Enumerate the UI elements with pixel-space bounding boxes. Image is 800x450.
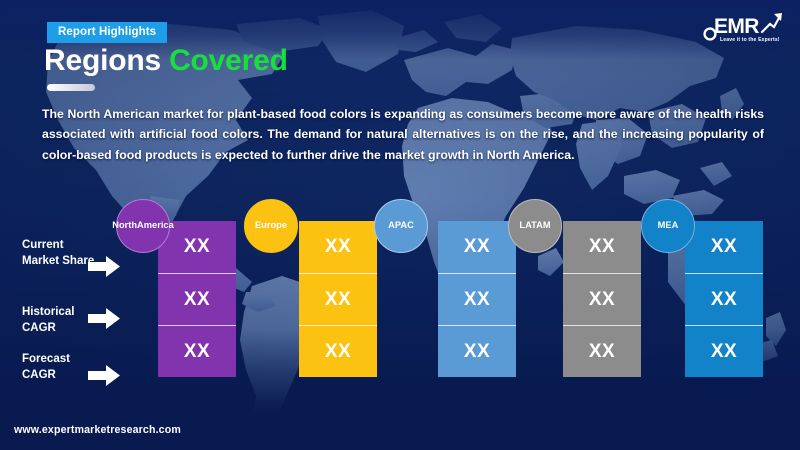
arrow-right-icon-1 bbox=[88, 256, 120, 277]
svg-text:EMR: EMR bbox=[714, 15, 759, 38]
arrow-right-icon-2 bbox=[88, 308, 120, 329]
svg-text:Leave it to the Experts!: Leave it to the Experts! bbox=[720, 37, 780, 43]
region-bubble-europe[interactable]: Europe bbox=[244, 199, 298, 253]
growth-arrow-icon bbox=[762, 13, 782, 32]
region-bubble-mea[interactable]: MEA bbox=[641, 199, 695, 253]
slide-canvas: Report Highlights Regions Covered EMR Le… bbox=[0, 0, 800, 450]
footer-url[interactable]: www.expertmarketresearch.com bbox=[14, 424, 181, 436]
region-bubble-latam[interactable]: LATAM bbox=[508, 199, 562, 253]
arrow-right-icon-3 bbox=[88, 365, 120, 386]
emr-logo[interactable]: EMR Leave it to the Experts! bbox=[700, 6, 786, 46]
region-bubble-apac[interactable]: APAC bbox=[374, 199, 428, 253]
region-bubble-north-america[interactable]: NorthAmerica bbox=[116, 199, 170, 253]
